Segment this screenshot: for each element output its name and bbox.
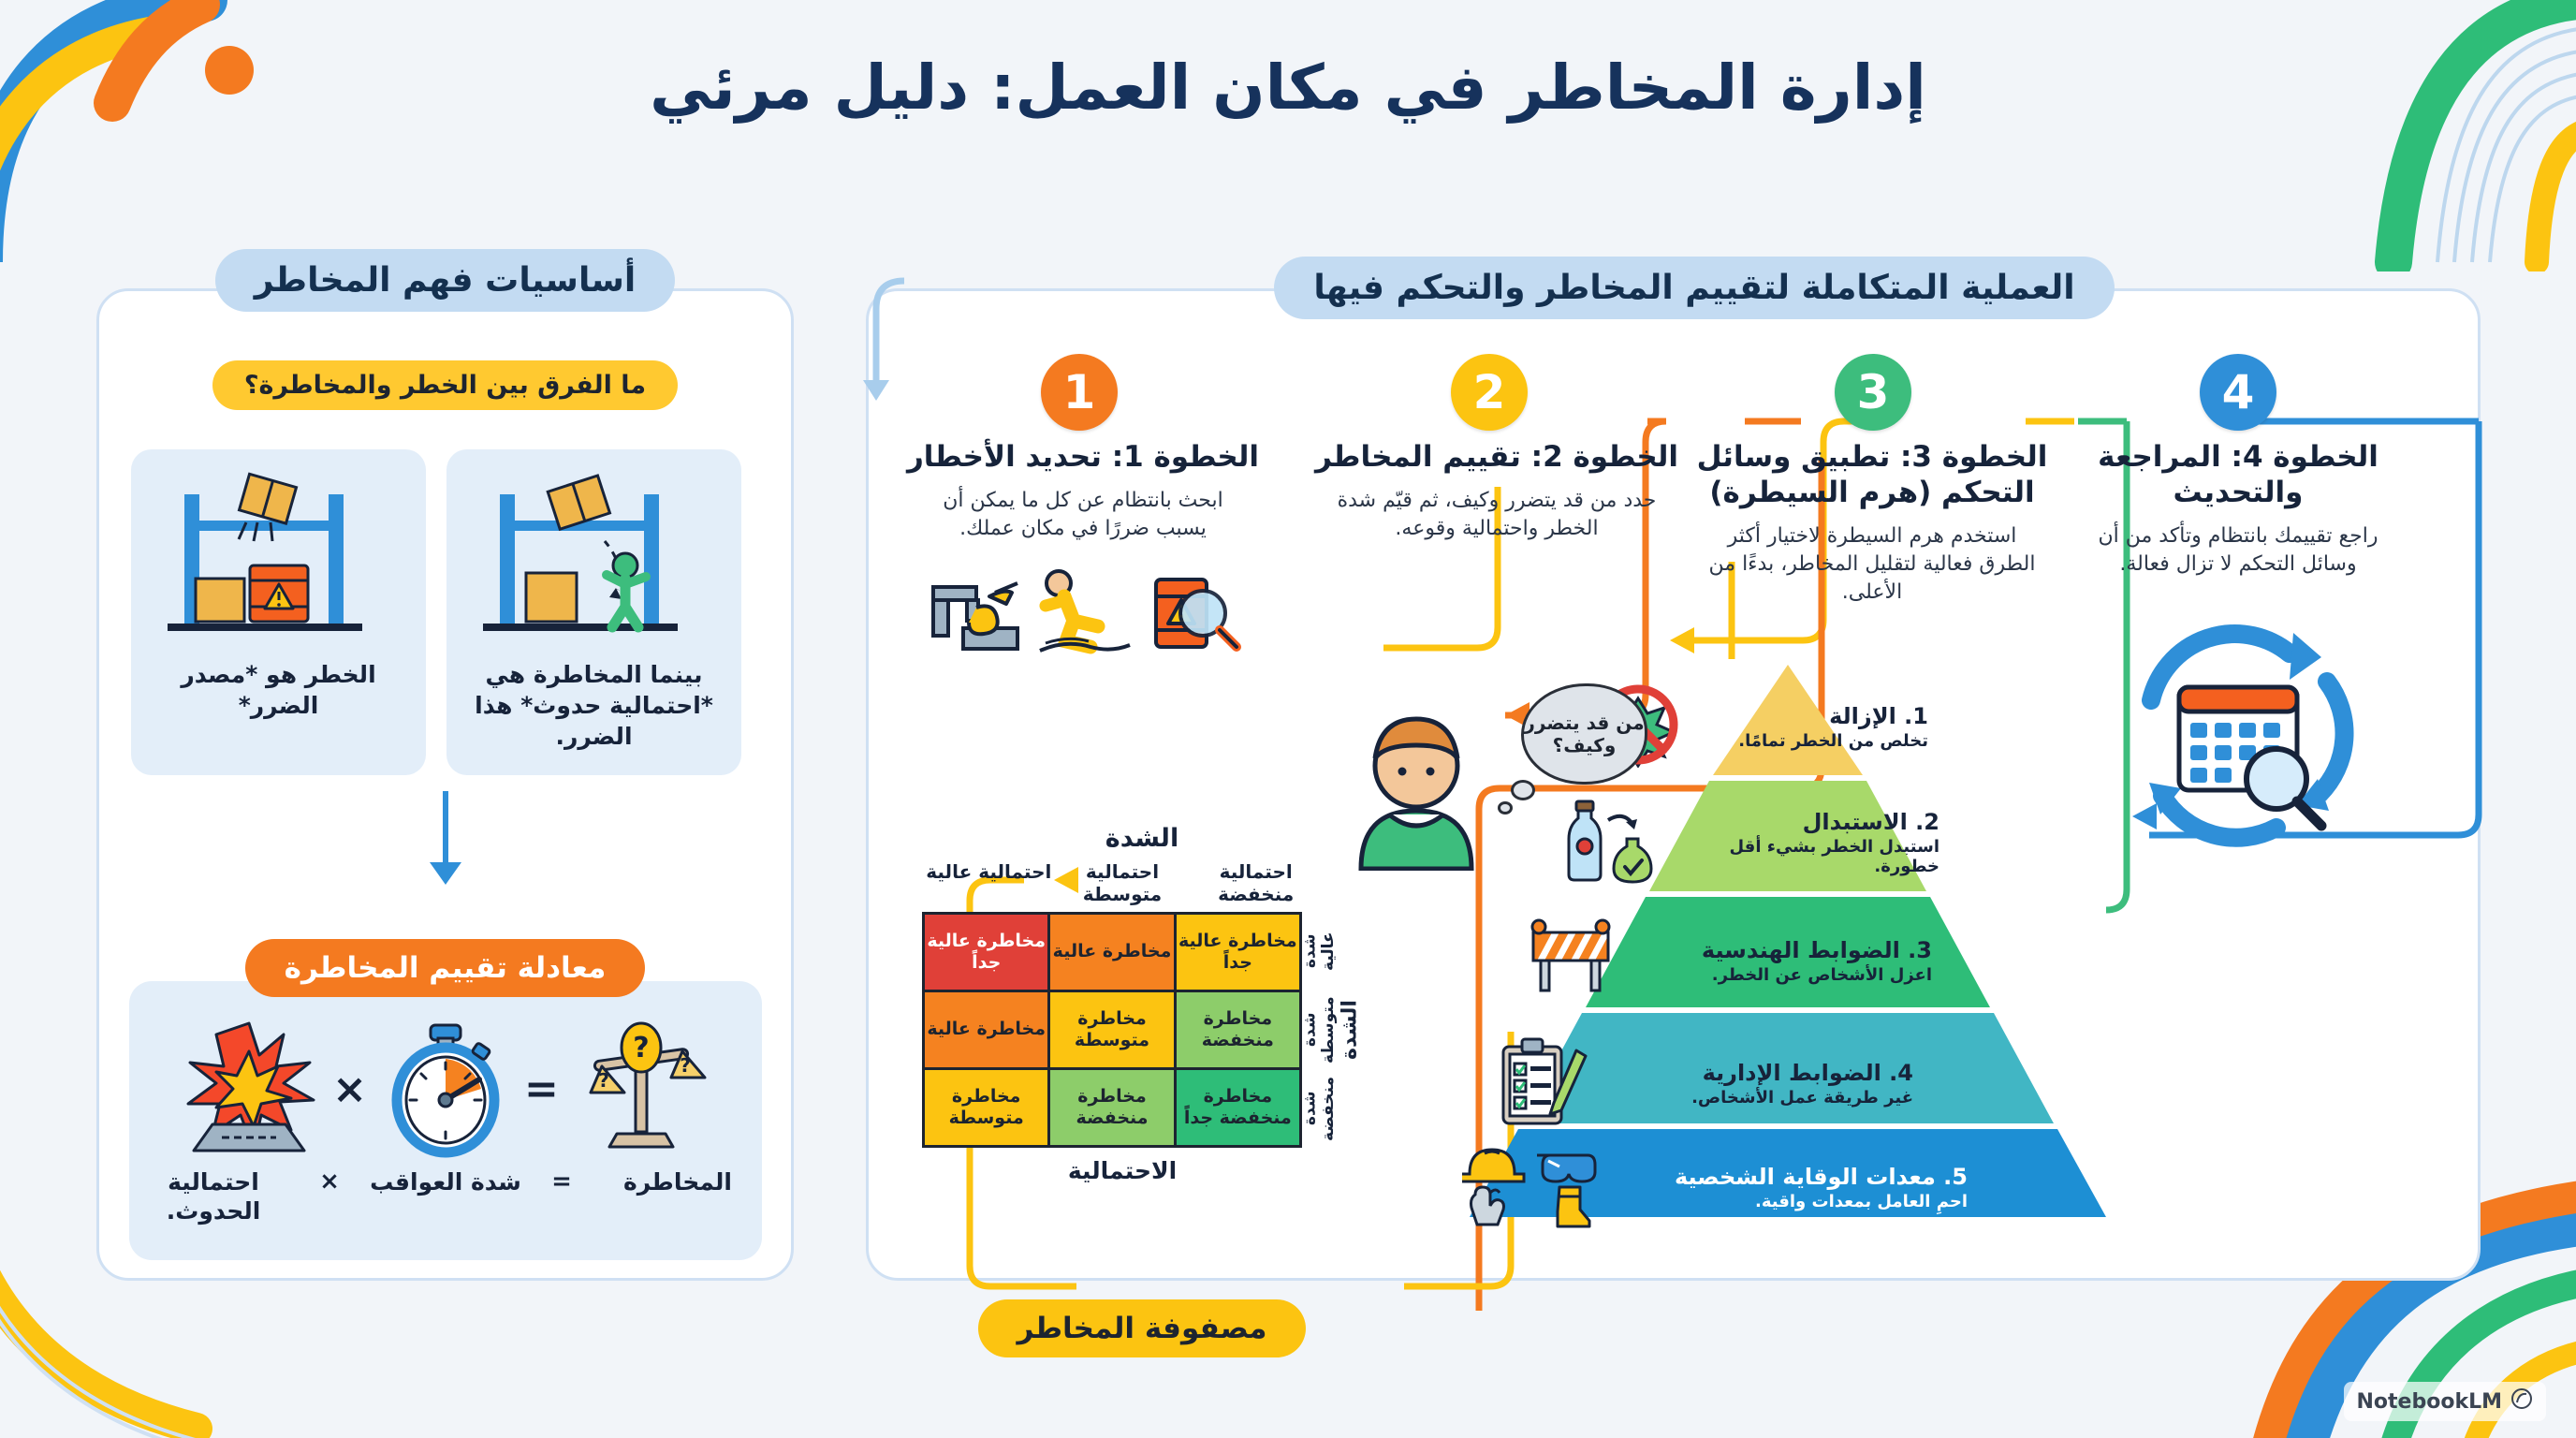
step-4-title: الخطوة 4: المراجعة والتحديث [2052,440,2424,511]
risk-equation-header: معادلة تقييم المخاطرة [96,939,794,997]
decoration-top-left [0,0,281,262]
pyramid-level-2-heading: 2. الاستبدال [1668,809,1939,835]
step-3-number: 3 [1857,365,1890,419]
footer-brand: NotebookLM [2344,1382,2546,1421]
warehouse-worker-falling-box-icon [461,462,726,646]
equation-term-risk: المخاطرة [599,1167,756,1196]
step-1-column: الخطوة 1: تحديد الأخطار ابحث بانتظام عن … [897,440,1269,660]
risk-equation-icons: ? ? ? = [129,1016,762,1164]
hazard-vs-risk-question-label: ما الفرق بين الخطر والمخاطرة؟ [212,360,678,410]
matrix-row-header-2: شدة منخفضة [1302,1069,1338,1148]
matrix-x-axis-label: الاحتمالية [922,1157,1362,1184]
risk-equation-header-label: معادلة تقييم المخاطرة [245,939,646,997]
page-title: إدارة المخاطر في مكان العمل: دليل مرئي [0,54,2576,123]
decoration-top-right [2192,0,2576,271]
risk-card: بينما المخاطرة هي *احتمالية حدوث* هذا ال… [446,449,741,775]
equation-term-likelihood: احتمالية الحدوث. [135,1167,292,1226]
explosion-icon [179,1018,319,1162]
pyramid-level-2-sub: استبدل الخطر بشيء أقل خطورة. [1668,837,1939,876]
matrix-body: الشدة شدة عالية شدة متوسطة شدة منخفضة مخ… [922,912,1362,1148]
step-2-desc: حدد من قد يتضرر وكيف، ثم قيّم شدة الخطر … [1310,487,1683,544]
thought-bubble-dot-small [1498,801,1513,814]
hazard-vs-risk-question: ما الفرق بين الخطر والمخاطرة؟ [96,360,794,410]
step-3-desc: استخدم هرم السيطرة لاختيار أكثر الطرق فع… [1676,522,2069,608]
bottle-swap-icon [1554,798,1657,888]
matrix-cell-2-0: مخاطرة منخفضة جداً [1177,1070,1299,1145]
process-header-label: العملية المتكاملة لتقييم المخاطر والتحكم… [1274,257,2114,319]
matrix-col-header-0: احتمالية منخفضة [1189,860,1323,906]
matrix-row-header-0: شدة عالية [1302,912,1338,990]
pyramid-level-5: 5. معدات الوقاية الشخصية احمِ العامل بمع… [1460,1142,2050,1232]
fundamentals-flow-arrow [96,791,794,903]
svg-text:?: ? [680,1054,691,1077]
fundamentals-header-label: أساسيات فهم المخاطر [215,249,675,312]
step-4-badge: 4 [2200,354,2276,431]
hazard-risk-cards: بينما المخاطرة هي *احتمالية حدوث* هذا ال… [131,449,741,775]
slip-fall-icon [1032,559,1134,660]
stopwatch-icon [380,1018,511,1162]
thought-bubble: من قد يتضرر وكيف؟ [1521,683,1647,785]
step-2-column: الخطوة 2: تقييم المخاطر حدد من قد يتضرر … [1310,440,1683,544]
equation-symbol-equals: = [537,1167,586,1196]
matrix-grid: مخاطرة عالية جداًمخاطرة عاليةمخاطرة عالي… [922,912,1302,1148]
matrix-cell-0-2: مخاطرة عالية جداً [925,915,1047,990]
equation-symbol-times: × [305,1167,354,1196]
matrix-y-axis-label: الشدة [1338,912,1362,1148]
pyramid-level-4: 4. الضوابط الإدارية غير طريقة عمل الأشخا… [1488,1035,2022,1131]
balance-scale-question-icon: ? ? ? [572,1018,712,1162]
step-3-title: الخطوة 3: تطبيق وسائل التحكم (هرم السيطر… [1676,440,2069,511]
risk-equation-box: ? ? ? = [129,981,762,1260]
matrix-label-pill: مصفوفة المخاطر [922,1299,1362,1357]
pyramid-level-5-heading: 5. معدات الوقاية الشخصية [1631,1164,1968,1190]
equation-equals-icon: = [524,1065,559,1113]
step-3-badge: 3 [1835,354,1911,431]
pyramid-level-2: 2. الاستبدال استبدل الخطر بشيء أقل خطورة… [1554,798,2012,888]
step-1-desc: ابحث بانتظام عن كل ما يمكن أن يسبب ضررًا… [897,487,1269,544]
equation-times-icon: × [332,1065,367,1113]
pyramid-level-1-heading: 1. الإزالة [1694,703,1928,729]
hazard-inspection-icons [897,559,1269,660]
chemical-drum-magnifier-icon [1143,559,1244,660]
step-4-number: 4 [2222,365,2255,419]
pyramid-level-3-heading: 3. الضوابط الهندسية [1632,937,1932,963]
matrix-cell-1-1: مخاطرة متوسطة [1050,992,1173,1067]
matrix-cell-2-1: مخاطرة منخفضة [1050,1070,1173,1145]
pyramid-level-1-sub: تخلص من الخطر تمامًا. [1694,731,1928,751]
pyramid-level-4-sub: غير طريقة عمل الأشخاص. [1604,1088,1913,1108]
warehouse-shelf-hazard-icon [146,462,411,646]
hazard-card: الخطر هو *مصدر الضرر* [131,449,426,775]
svg-text:?: ? [598,1069,609,1092]
ppe-helmet-goggles-gloves-boots-icon [1460,1142,1619,1232]
matrix-col-header-2: احتمالية عالية [922,860,1056,906]
infographic-canvas: إدارة المخاطر في مكان العمل: دليل مرئي أ… [0,0,2576,1438]
svg-text:?: ? [633,1032,649,1064]
process-header: العملية المتكاملة لتقييم المخاطر والتحكم… [1184,257,2204,319]
barrier-icon [1516,917,1621,1004]
hazard-card-caption: الخطر هو *مصدر الضرر* [146,659,411,721]
pyramid-level-4-heading: 4. الضوابط الإدارية [1604,1060,1913,1086]
thought-bubble-dot-large [1511,780,1535,800]
matrix-severity-title: الشدة [922,824,1362,853]
risk-matrix: الشدة احتمالية منخفضة احتمالية متوسطة اح… [922,824,1362,1184]
step-1-badge: 1 [1041,354,1118,431]
equation-term-severity: شدة العواقب [367,1167,524,1196]
step-1-title: الخطوة 1: تحديد الأخطار [897,440,1269,476]
notebooklm-logo-icon [2510,1387,2533,1416]
clipboard-checklist-icon [1488,1035,1593,1131]
matrix-cell-2-2: مخاطرة متوسطة [925,1070,1047,1145]
matrix-cell-1-0: مخاطرة منخفضة [1177,992,1299,1067]
risk-equation-labels: المخاطرة = شدة العواقب × احتمالية الحدوث… [129,1167,762,1226]
matrix-cell-1-2: مخاطرة عالية [925,992,1047,1067]
matrix-row-headers: شدة عالية شدة متوسطة شدة منخفضة [1302,912,1338,1148]
machine-hazard-icon [922,559,1023,660]
step-4-desc: راجع تقييمك بانتظام وتأكد من أن وسائل ال… [2052,522,2424,580]
matrix-row-header-1: شدة متوسطة [1302,990,1338,1069]
matrix-col-header-1: احتمالية متوسطة [1056,860,1190,906]
matrix-cell-0-1: مخاطرة عالية [1050,915,1173,990]
pyramid-level-5-sub: احمِ العامل بمعدات واقية. [1631,1192,1968,1211]
step-3-column: الخطوة 3: تطبيق وسائل التحكم (هرم السيطر… [1676,440,2069,608]
pyramid-level-3-sub: اعزل الأشخاص عن الخطر. [1632,965,1932,985]
step-2-badge: 2 [1451,354,1528,431]
step-2-number: 2 [1473,365,1506,419]
footer-brand-label: NotebookLM [2357,1390,2502,1414]
step-1-number: 1 [1063,365,1096,419]
step-2-title: الخطوة 2: تقييم المخاطر [1310,440,1683,476]
pyramid-level-1: 1. الإزالة تخلص من الخطر تمامًا. [1591,682,2003,771]
matrix-cell-0-0: مخاطرة عالية جداً [1177,915,1299,990]
matrix-label-text: مصفوفة المخاطر [978,1299,1307,1357]
thought-bubble-text: من قد يتضرر وكيف؟ [1524,712,1645,756]
matrix-column-headers: احتمالية منخفضة احتمالية متوسطة احتمالية… [922,860,1362,906]
pyramid-level-3: 3. الضوابط الهندسية اعزل الأشخاص عن الخط… [1516,917,2022,1004]
risk-card-caption: بينما المخاطرة هي *احتمالية حدوث* هذا ال… [461,659,726,752]
fundamentals-header: أساسيات فهم المخاطر [96,249,794,312]
